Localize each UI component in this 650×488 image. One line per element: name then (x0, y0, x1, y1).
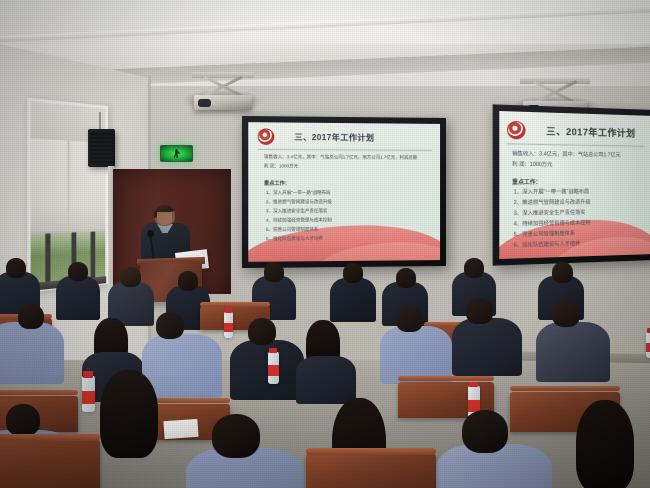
slide-bullet: 4、持续加强经营管理与成本控制 (514, 219, 591, 228)
attendee-head (396, 268, 416, 288)
attendee-head (552, 300, 580, 327)
projection-screen-right: 三、2017年工作计划 销售收入：3.4亿元，其中：气站总公司1.7亿元 利 润… (493, 104, 650, 265)
slide-title-underline (258, 149, 432, 151)
attendee-head (120, 267, 141, 287)
attendee-head (68, 262, 88, 281)
slide-title: 三、2017年工作计划 (294, 131, 374, 143)
water-bottle (82, 376, 95, 412)
bottle-cap (225, 308, 232, 313)
screen-surface: 三、2017年工作计划 销售收入：3.4亿元，其中：气站总公司1.7亿元，地方公… (248, 122, 440, 262)
speaker-grille (90, 131, 113, 165)
bottle-label (646, 343, 650, 352)
attendee-torso (0, 322, 64, 384)
attendee-head (343, 263, 363, 283)
slide-bullet: 6、强化队伍建设与人才培养 (266, 236, 323, 242)
slide-body-heading: 重点工作： (512, 178, 541, 187)
exit-sign-glow (161, 146, 192, 161)
slide-subtitle-2: 利 润：1000万元 (264, 163, 298, 169)
slide-header: 三、2017年工作计划 (507, 120, 644, 142)
speaker-mount-bracket (99, 112, 101, 130)
slide-subtitle: 销售收入：3.4亿元，其中：气站总公司1.7亿元，地方公司1.7亿元，利润总额 (264, 154, 433, 161)
organization-emblem-icon (507, 120, 526, 139)
window-mullion (91, 232, 96, 279)
attendee-head (466, 298, 493, 324)
bottle-cap (83, 371, 93, 378)
slide-bullet: 5、完善公司管理制度体系 (514, 230, 575, 239)
projection-screen-left: 三、2017年工作计划 销售收入：3.4亿元，其中：气站总公司1.7亿元，地方公… (242, 116, 446, 268)
attendee-head (178, 271, 198, 291)
projector-lens-icon (198, 99, 211, 107)
slide-title: 三、2017年工作计划 (546, 124, 635, 140)
attendee-head (396, 306, 423, 332)
scissor-lift-arms (531, 82, 579, 102)
microphone-icon (147, 230, 154, 237)
attendee-torso (330, 278, 376, 322)
attendee-head (248, 318, 276, 345)
handout-paper (163, 419, 198, 439)
attendee-head (464, 258, 484, 278)
attendee-head (212, 414, 260, 458)
slide-bullet: 2、推进燃气管网建设与改造升级 (514, 198, 591, 206)
attendee-torso (296, 356, 356, 404)
bottle-label (82, 391, 95, 404)
attendee-torso (536, 322, 610, 382)
wall-speaker (88, 129, 115, 167)
bench-rail (200, 302, 270, 307)
conference-room-photo: 三、2017年工作计划 销售收入：3.4亿元，其中：气站总公司1.7亿元，地方公… (0, 0, 650, 488)
ceiling-projector-left (192, 72, 254, 114)
slide-subtitle: 销售收入：3.4亿元，其中：气站总公司1.7亿元 (512, 150, 644, 159)
attendee-head (6, 404, 40, 436)
bottle-cap (469, 382, 478, 387)
running-man-icon (173, 149, 180, 158)
organization-emblem-icon (258, 128, 275, 145)
slide-bullet: 1、深入开展"一带一路"战略布局 (514, 188, 589, 196)
screen-surface: 三、2017年工作计划 销售收入：3.4亿元，其中：气站总公司1.7亿元 利 润… (499, 111, 650, 259)
scissor-lift-arms (202, 76, 244, 96)
bench-rail (398, 376, 494, 381)
water-bottle (646, 332, 650, 358)
attendee-head (156, 312, 184, 339)
water-bottle (268, 352, 279, 384)
bench-seatback (306, 454, 436, 488)
slide-bullet: 2、推进燃气管网建设与改造升级 (266, 199, 332, 205)
bench-rail (510, 386, 620, 391)
attendee-head (18, 304, 44, 329)
bottle-label (224, 323, 233, 332)
bottle-label (268, 365, 279, 376)
attendee-torso (56, 276, 100, 320)
bench-rail (0, 390, 78, 395)
window-mullion (45, 233, 50, 283)
attendee-hair (576, 400, 634, 488)
bench-rail (306, 448, 436, 455)
slide-bullet: 3、深入推进安全生产责任落实 (514, 209, 586, 217)
slide-header: 三、2017年工作计划 (258, 128, 432, 146)
attendee-torso (230, 340, 304, 400)
slide-bullet: 4、持续加强经营管理与成本控制 (266, 217, 332, 223)
bottle-cap (269, 348, 277, 353)
emergency-exit-sign (160, 145, 193, 162)
attendee-head (552, 262, 573, 283)
slide-title-underline (507, 143, 644, 146)
slide-body-heading: 重点工作： (264, 180, 290, 187)
slide-bullet: 1、深入开展"一带一路"战略布局 (266, 190, 331, 196)
presenter-face (157, 212, 172, 225)
bench-rail (0, 434, 100, 441)
attendee-head (6, 258, 26, 278)
attendee-head (462, 410, 508, 453)
attendee-head (264, 262, 284, 282)
attendee-hair (100, 370, 158, 458)
bench-seatback (0, 440, 100, 488)
blind-panel-divider (68, 141, 70, 231)
attendee-torso (452, 318, 522, 376)
water-bottle (224, 312, 233, 338)
slide-subtitle-2: 利 润：1000万元 (512, 160, 552, 168)
window-with-roller-blind (27, 98, 108, 293)
slide-bullet: 3、深入推进安全生产责任落实 (266, 208, 328, 214)
slide-bullet: 5、完善公司管理制度体系 (266, 227, 319, 233)
